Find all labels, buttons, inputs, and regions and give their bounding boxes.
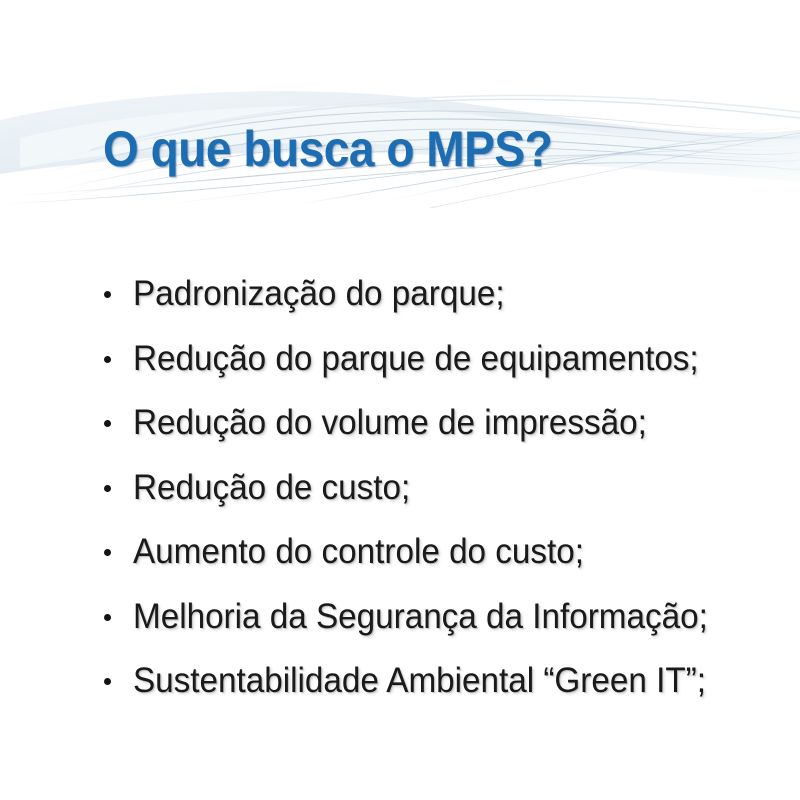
- title-area: O que busca o MPS?: [0, 120, 800, 184]
- list-item: Sustentabilidade Ambiental “Green IT”;: [0, 649, 800, 714]
- bullet-dot-icon: [104, 420, 111, 427]
- bullet-dot-icon: [104, 549, 111, 556]
- list-item-label: Padronização do parque;: [133, 274, 505, 314]
- list-item: Aumento do controle do custo;: [0, 520, 800, 585]
- bullet-list: Padronização do parque; Redução do parqu…: [0, 262, 800, 714]
- list-item: Melhoria da Segurança da Informação;: [0, 585, 800, 650]
- presentation-slide: O que busca o MPS? Padronização do parqu…: [0, 0, 800, 800]
- list-item-label: Sustentabilidade Ambiental “Green IT”;: [133, 661, 706, 701]
- list-item: Redução do parque de equipamentos;: [0, 327, 800, 392]
- list-item-label: Melhoria da Segurança da Informação;: [133, 597, 708, 637]
- bullet-dot-icon: [104, 614, 111, 621]
- bullet-dot-icon: [104, 356, 111, 363]
- bullet-dot-icon: [104, 678, 111, 685]
- list-item-label: Redução do parque de equipamentos;: [133, 339, 699, 379]
- list-item: Redução do volume de impressão;: [0, 391, 800, 456]
- list-item-label: Aumento do controle do custo;: [133, 532, 584, 572]
- bullet-dot-icon: [104, 485, 111, 492]
- list-item-label: Redução de custo;: [133, 468, 410, 508]
- list-item: Padronização do parque;: [0, 262, 800, 327]
- bullet-dot-icon: [104, 291, 111, 298]
- list-item-label: Redução do volume de impressão;: [133, 403, 647, 443]
- page-title: O que busca o MPS?: [103, 120, 552, 178]
- list-item: Redução de custo;: [0, 456, 800, 521]
